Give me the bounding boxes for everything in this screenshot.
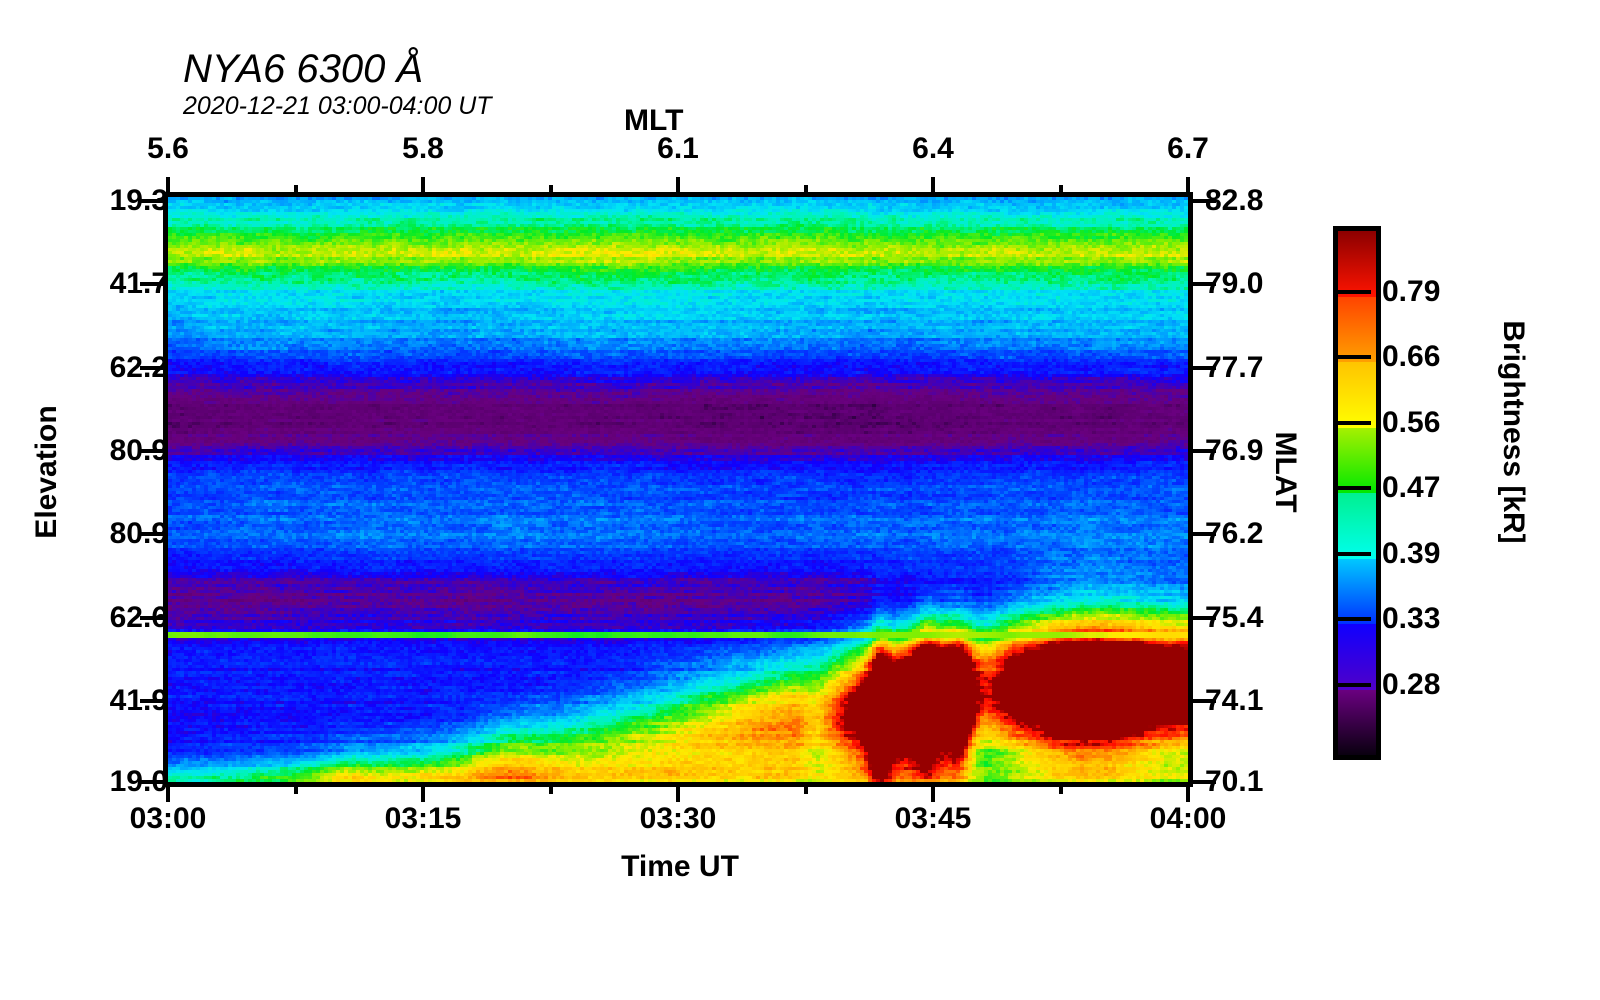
- mlt-tick-mark-minor: [549, 185, 553, 197]
- elevation-tick-mark: [140, 449, 168, 453]
- colorbar-separator: [1333, 617, 1371, 621]
- time-tick-mark: [166, 782, 170, 802]
- keogram-plot-area: [168, 197, 1188, 782]
- mlt-tick-label: 6.7: [1167, 132, 1209, 166]
- colorbar-segment: [1338, 297, 1376, 363]
- mlt-tick-mark: [676, 177, 680, 197]
- mlat-tick-mark: [1188, 199, 1216, 203]
- colorbar-separator: [1333, 552, 1371, 556]
- colorbar-separator: [1333, 355, 1371, 359]
- mlat-tick-mark: [1188, 699, 1216, 703]
- colorbar-separator: [1333, 421, 1371, 425]
- colorbar-tick-label: 0.47: [1382, 471, 1440, 505]
- mlat-tick-mark: [1188, 532, 1216, 536]
- elevation-tick-mark: [140, 699, 168, 703]
- mlat-tick-mark: [1188, 780, 1216, 784]
- elevation-tick-mark: [140, 780, 168, 784]
- colorbar-segment: [1338, 231, 1376, 297]
- time-tick-mark-minor: [549, 782, 553, 794]
- colorbar-tick-label: 0.39: [1382, 537, 1440, 571]
- colorbar-tick-label: 0.33: [1382, 602, 1440, 636]
- mlt-tick-mark-minor: [804, 185, 808, 197]
- page-title: NYA6 6300 Å: [183, 47, 423, 92]
- colorbar-tick-label: 0.79: [1382, 275, 1440, 309]
- mlat-tick-mark: [1188, 282, 1216, 286]
- time-tick-label: 03:30: [640, 802, 717, 836]
- colorbar-segment: [1338, 690, 1376, 756]
- time-tick-mark-minor: [804, 782, 808, 794]
- mlt-tick-mark: [1186, 177, 1190, 197]
- mlat-tick-mark: [1188, 366, 1216, 370]
- mlt-tick-label: 5.6: [147, 132, 189, 166]
- time-tick-label: 03:00: [130, 802, 207, 836]
- colorbar-tick-label: 0.28: [1382, 668, 1440, 702]
- keogram-image: [168, 197, 1188, 782]
- mlat-tick-mark: [1188, 449, 1216, 453]
- colorbar-separator: [1333, 683, 1371, 687]
- elevation-tick-mark: [140, 366, 168, 370]
- mlt-tick-label: 6.1: [657, 132, 699, 166]
- time-tick-mark: [1186, 782, 1190, 802]
- time-tick-mark-minor: [294, 782, 298, 794]
- colorbar-segment: [1338, 559, 1376, 625]
- colorbar-segment: [1338, 493, 1376, 559]
- time-tick-label: 03:45: [895, 802, 972, 836]
- elevation-tick-mark: [140, 616, 168, 620]
- colorbar-tick-label: 0.66: [1382, 340, 1440, 374]
- colorbar-axis-title: Brightness [kR]: [1496, 302, 1530, 562]
- time-axis-title: Time UT: [0, 850, 1360, 884]
- colorbar-separator: [1333, 486, 1371, 490]
- time-tick-label: 03:15: [385, 802, 462, 836]
- mlt-tick-mark: [421, 177, 425, 197]
- page-subtitle: 2020-12-21 03:00-04:00 UT: [183, 92, 492, 121]
- mlat-tick-mark: [1188, 616, 1216, 620]
- mlt-tick-label: 5.8: [402, 132, 444, 166]
- elevation-tick-mark: [140, 532, 168, 536]
- mlt-tick-mark: [931, 177, 935, 197]
- colorbar-segment: [1338, 428, 1376, 494]
- elevation-tick-mark: [140, 199, 168, 203]
- colorbar-tick-label: 0.56: [1382, 406, 1440, 440]
- time-tick-mark-minor: [1059, 782, 1063, 794]
- colorbar-segment: [1338, 624, 1376, 690]
- mlat-axis-title: MLAT: [1268, 382, 1302, 562]
- time-tick-mark: [421, 782, 425, 802]
- elevation-tick-mark: [140, 282, 168, 286]
- mlt-tick-mark-minor: [294, 185, 298, 197]
- keogram-figure: NYA6 6300 Å 2020-12-21 03:00-04:00 UT ML…: [0, 0, 1600, 1000]
- colorbar-separator: [1333, 290, 1371, 294]
- time-tick-mark: [676, 782, 680, 802]
- mlt-tick-label: 6.4: [912, 132, 954, 166]
- colorbar: [1333, 226, 1381, 760]
- time-tick-label: 04:00: [1150, 802, 1227, 836]
- mlt-tick-mark-minor: [1059, 185, 1063, 197]
- time-tick-mark: [931, 782, 935, 802]
- colorbar-segment: [1338, 362, 1376, 428]
